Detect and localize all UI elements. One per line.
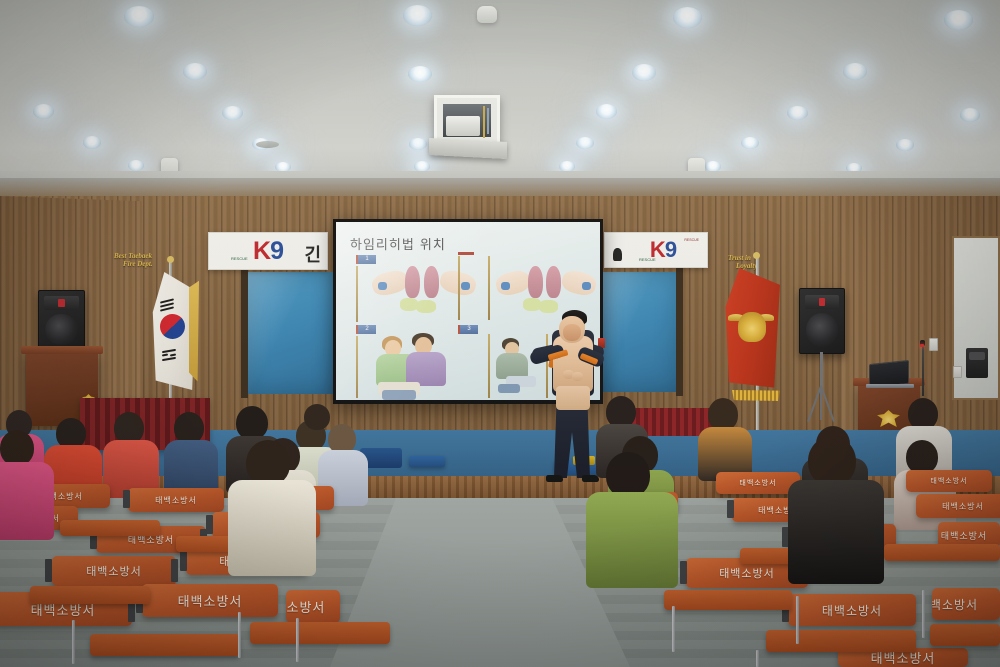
ceiling-light <box>596 104 617 119</box>
ceiling-light <box>705 161 721 172</box>
chair[interactable]: 태백소방서 <box>906 470 992 492</box>
instructor-shoe <box>546 475 563 482</box>
chair-label: 태백소방서 <box>155 495 197 506</box>
window-glass-right <box>600 272 678 392</box>
training-mat <box>409 456 445 467</box>
chair-label: 태백소방서 <box>178 591 243 610</box>
chair[interactable]: 태백소방서 <box>788 594 916 626</box>
wall-outlet-plate[interactable] <box>953 366 962 378</box>
ceiling-light <box>403 5 432 26</box>
microphone-stem <box>922 344 924 396</box>
wall-script-left: Best Taebaek Fire Dept. <box>114 252 204 268</box>
slide-illustration-1 <box>372 262 476 322</box>
k9-logo-k: K <box>253 237 270 265</box>
k9-logo-sub-left: RESCUE <box>231 256 248 261</box>
speaker-right <box>799 288 845 354</box>
slide-illustration-3 <box>372 332 472 398</box>
laptop-base <box>866 384 914 388</box>
window-glass-left <box>247 272 339 394</box>
chair-label: 태백소방서 <box>941 529 987 542</box>
flag-emblem <box>738 312 766 342</box>
ceiling-light <box>576 137 594 149</box>
slide-divider <box>488 256 490 320</box>
slide-panel-tag-3: 3 <box>458 325 478 334</box>
chair-seat[interactable] <box>30 586 150 604</box>
ceiling <box>0 0 1000 205</box>
banner-korean-left: 긴 <box>304 241 321 267</box>
chair-seat[interactable] <box>664 590 792 610</box>
ceiling-light <box>414 161 430 172</box>
ceiling-light <box>787 106 808 120</box>
ceiling-light <box>960 108 980 122</box>
mannequin-hand <box>572 372 583 381</box>
k9-banner-left: K9 RESCUE 긴 <box>208 232 328 270</box>
slide-title: 하임리히법 위치 <box>350 234 446 253</box>
chair-label: 태백소방서 <box>942 501 984 512</box>
chair[interactable]: 태백소방서 <box>52 556 176 586</box>
korean-flag <box>148 272 196 390</box>
flagpole-finial-left <box>167 256 174 263</box>
speaker-left <box>38 290 85 352</box>
slide-divider <box>356 266 358 322</box>
ceiling-light <box>275 162 291 172</box>
ceiling-light <box>559 161 575 172</box>
chair-seat[interactable] <box>250 622 390 644</box>
emergency-phone[interactable] <box>966 348 988 378</box>
chair-label: 태백소방서 <box>739 478 776 488</box>
podium-emblem-right <box>877 410 900 427</box>
chair-label: 태백소방서 <box>286 597 325 616</box>
chair-seat[interactable] <box>930 624 1000 646</box>
smoke-detector-icon <box>477 6 497 23</box>
slide-divider <box>356 336 358 398</box>
mannequin-face <box>563 324 581 341</box>
ceiling-light <box>128 160 144 171</box>
ceiling-light <box>183 63 207 80</box>
k9-logo-sub-right: RESCUE <box>639 257 656 262</box>
auditorium-scene: K9 RESCUE 긴 RESCUE K9 RESCUE Best Taebae… <box>0 0 1000 667</box>
ceiling-light <box>896 139 914 151</box>
ceiling-light <box>83 136 101 149</box>
slide-divider <box>488 334 490 398</box>
ceiling-light <box>846 163 862 173</box>
flagpole-finial-right <box>753 252 760 259</box>
flag-fringe <box>732 390 780 401</box>
ceiling-light <box>843 63 867 80</box>
chair-seat[interactable] <box>60 520 160 536</box>
window-frame-left <box>241 268 248 398</box>
ceiling-light <box>409 138 427 150</box>
wall-script-right-line1: Trust in <box>728 254 810 262</box>
chair[interactable]: 태백소방서 <box>128 488 224 512</box>
ceiling-light <box>124 6 154 27</box>
slide-divider <box>458 256 460 320</box>
window-frame-right <box>676 268 683 396</box>
chair-label: 태백소방서 <box>932 596 978 613</box>
ceiling-vent <box>256 141 279 148</box>
chair-label: 태백소방서 <box>719 565 775 581</box>
ceiling-light <box>741 137 759 149</box>
chair[interactable]: 태백소방서 <box>932 588 1000 620</box>
chair[interactable]: 태백소방서 <box>286 590 340 623</box>
k9-rescue-tag: RESCUE <box>684 238 699 242</box>
ceiling-light <box>222 106 243 120</box>
chair-seat[interactable] <box>884 544 1000 561</box>
wall-switch-plate[interactable] <box>929 338 938 351</box>
ceiling-light <box>673 7 702 28</box>
cpr-training-mannequin <box>551 318 595 410</box>
speaker-tripod-leg <box>820 386 822 420</box>
chair-label: 태백소방서 <box>86 563 142 579</box>
chair-seat[interactable] <box>90 634 240 656</box>
microphone-led <box>920 344 924 347</box>
slide-accent-bar <box>458 252 474 255</box>
ceiling-light <box>632 64 656 81</box>
chair[interactable]: 태백소방서 <box>142 584 278 617</box>
instructor-shoe <box>582 475 599 482</box>
ceiling-light <box>944 10 973 30</box>
k9-dog-icon <box>613 248 622 261</box>
projector-housing-lid <box>429 138 507 159</box>
flag-gold-trim <box>189 274 199 386</box>
wall-script-left-line1: Best Taebaek <box>114 252 204 260</box>
ceiling-light <box>408 66 432 82</box>
chair[interactable]: 태백소방서 <box>916 494 1000 518</box>
ceiling-light <box>33 104 54 119</box>
chair-seat[interactable] <box>766 630 916 652</box>
chair-label: 태백소방서 <box>930 476 967 486</box>
chair-label: 태백소방서 <box>822 602 882 619</box>
k9-logo-9: 9 <box>270 237 283 265</box>
k9-banner-right: RESCUE K9 RESCUE <box>604 232 708 268</box>
ceremonial-flag <box>722 268 780 398</box>
k9-logo-9-right: 9 <box>665 237 676 262</box>
speaker-tripod-stem <box>820 352 823 388</box>
wall-script-left-line2: Fire Dept. <box>123 260 204 268</box>
